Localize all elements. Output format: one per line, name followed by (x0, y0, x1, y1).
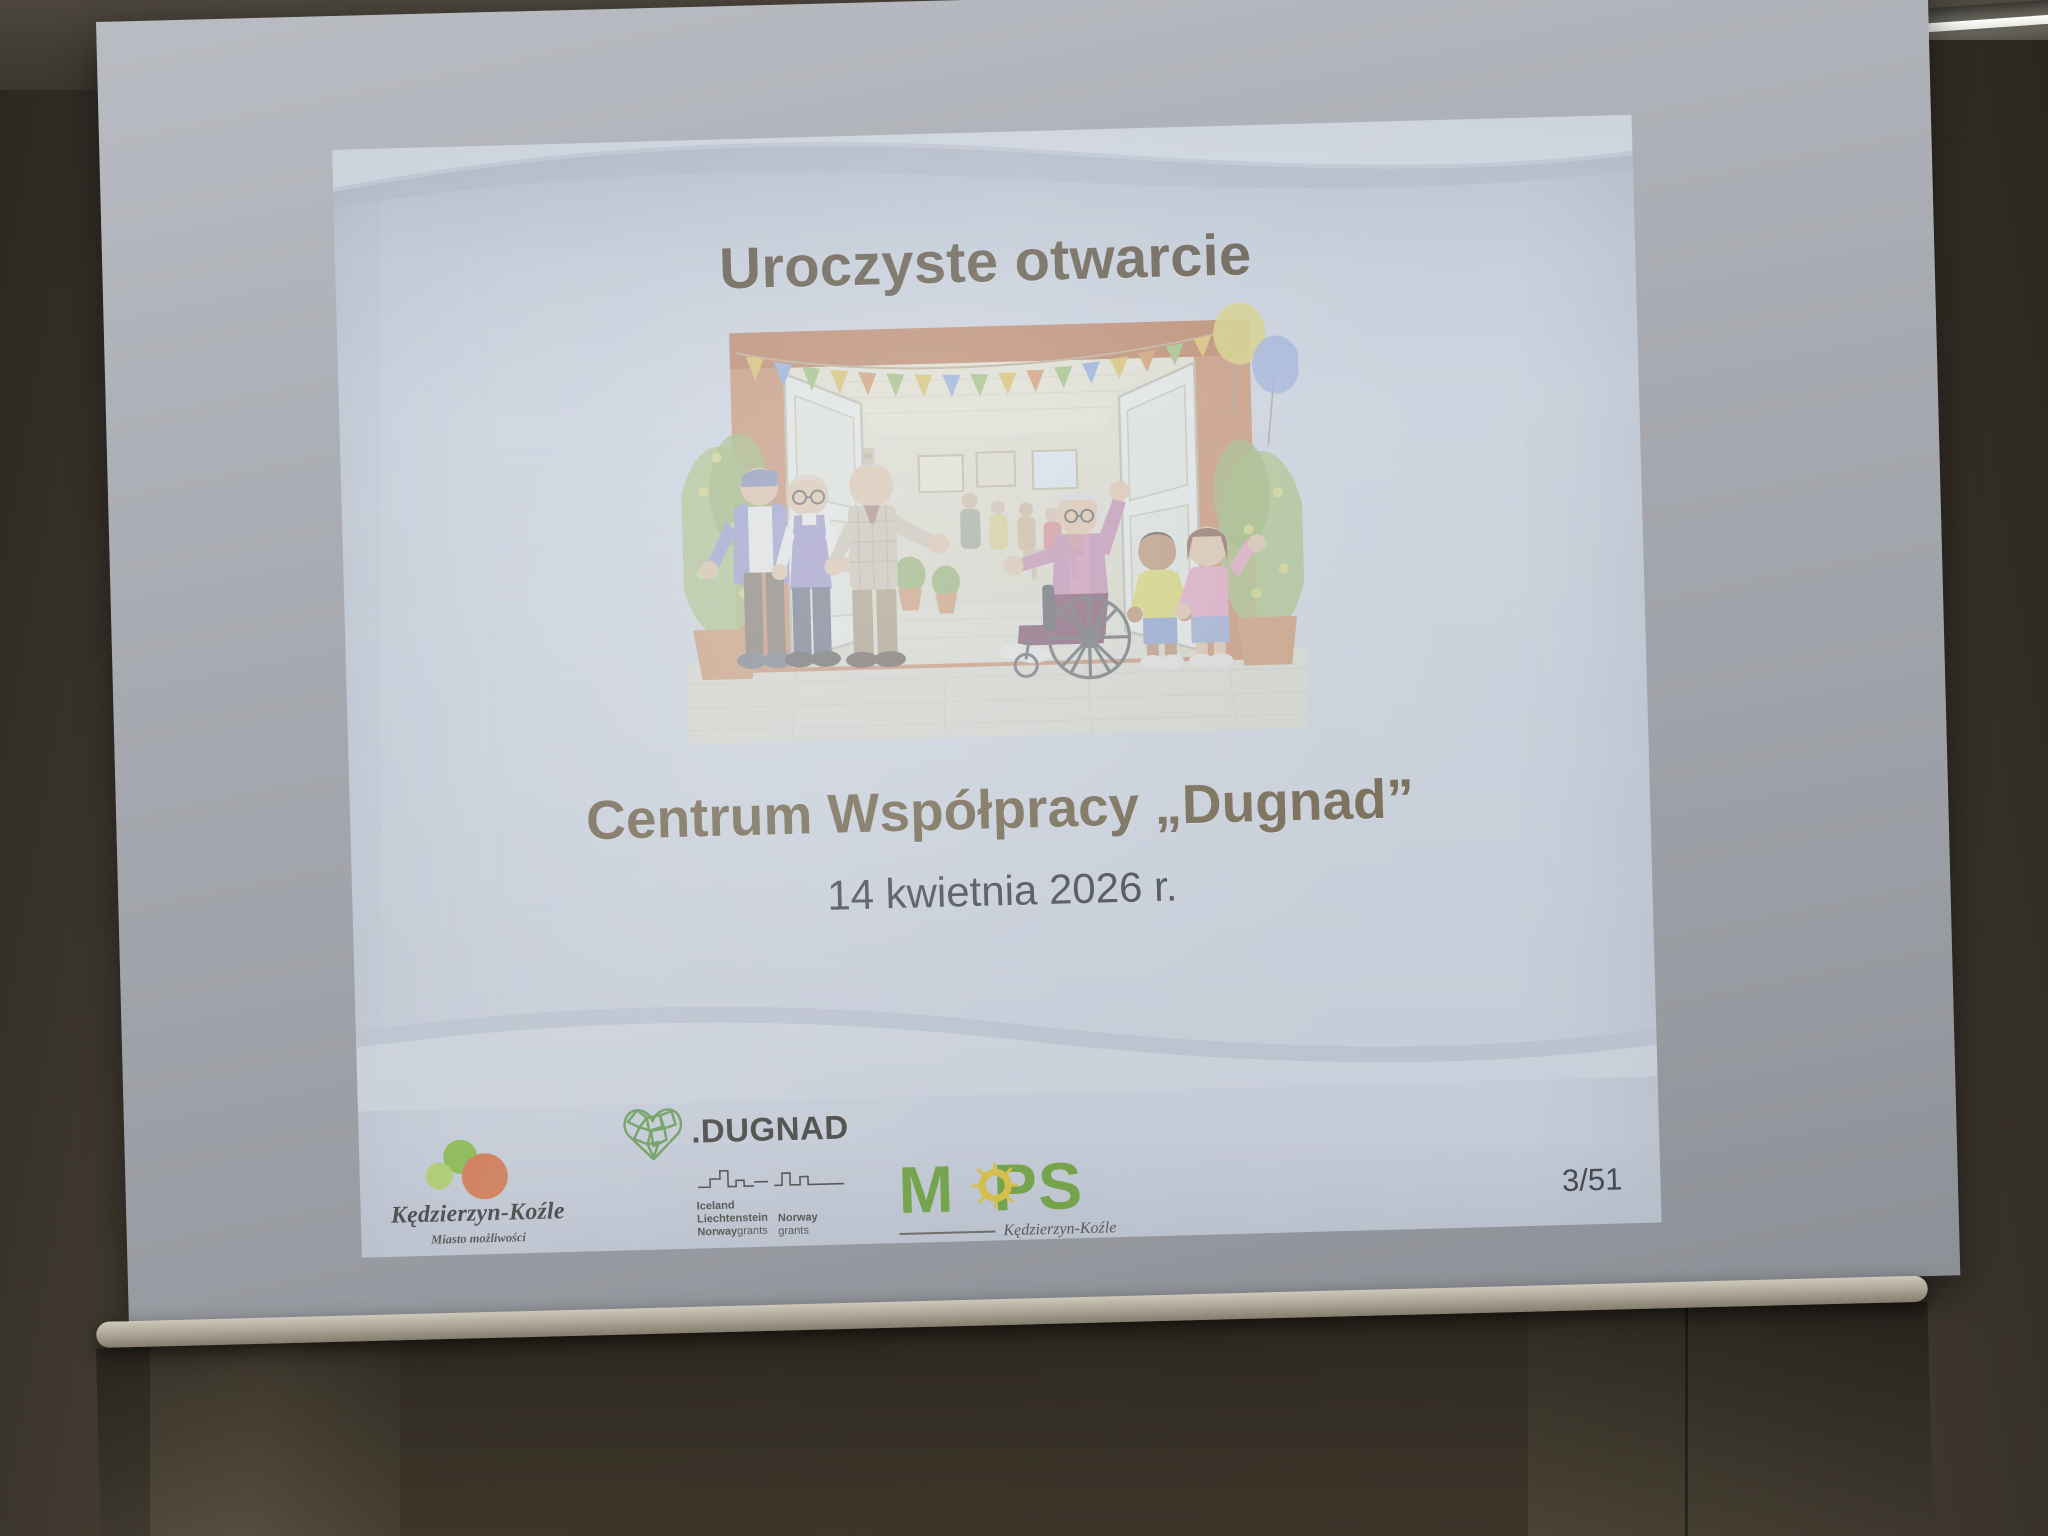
logo-tagline: Miasto możliwości (383, 1229, 573, 1249)
grants-norway: Norway (697, 1225, 737, 1238)
divider (900, 1231, 996, 1235)
grants-word-2: grants (778, 1224, 818, 1238)
logo-dugnad: .DUGNAD Iceland (618, 1091, 852, 1242)
grants-norway-2: Norway (778, 1211, 818, 1225)
logo-name: Kędzierzyn-Koźle (383, 1198, 574, 1230)
grants-skyline-icon (696, 1166, 847, 1196)
circle-light-green (425, 1162, 453, 1190)
mops-wordmark: M PS (897, 1144, 1149, 1229)
slide: Uroczyste otwarcie (332, 115, 1661, 1258)
slide-title: Uroczyste otwarcie (335, 211, 1636, 313)
slide-footer: Kędzierzyn-Koźle Miasto możliwości (357, 1052, 1661, 1257)
page-number: 3/51 (1562, 1161, 1623, 1199)
logo-mops: M PS (897, 1144, 1149, 1243)
grants-left: Iceland Liechtenstein Norwaygrants (697, 1199, 769, 1241)
circle-orange (461, 1153, 508, 1200)
conference-room: Uroczyste otwarcie (0, 0, 2048, 1536)
logo-kedzierzyn-kozle: Kędzierzyn-Koźle Miasto możliwości (381, 1135, 574, 1249)
illustration-grand-opening (677, 296, 1308, 745)
dugnad-heart-icon (618, 1096, 688, 1170)
dugnad-wordmark: .DUGNAD (691, 1108, 849, 1150)
slide-heading: Centrum Współpracy „Dugnad” (349, 760, 1650, 859)
kedzierzyn-kozle-icon (381, 1135, 573, 1202)
slide-date: 14 kwietnia 2026 r. (352, 850, 1653, 933)
grants-block: Iceland Liechtenstein Norwaygrants Norwa… (696, 1165, 852, 1240)
grants-right: Norway grants (777, 1197, 818, 1238)
sun-icon (972, 1162, 1019, 1209)
logo-row: Kędzierzyn-Koźle Miasto możliwości (380, 1083, 1150, 1249)
grants-word: grants (737, 1225, 768, 1238)
illustration-svg (677, 296, 1308, 745)
